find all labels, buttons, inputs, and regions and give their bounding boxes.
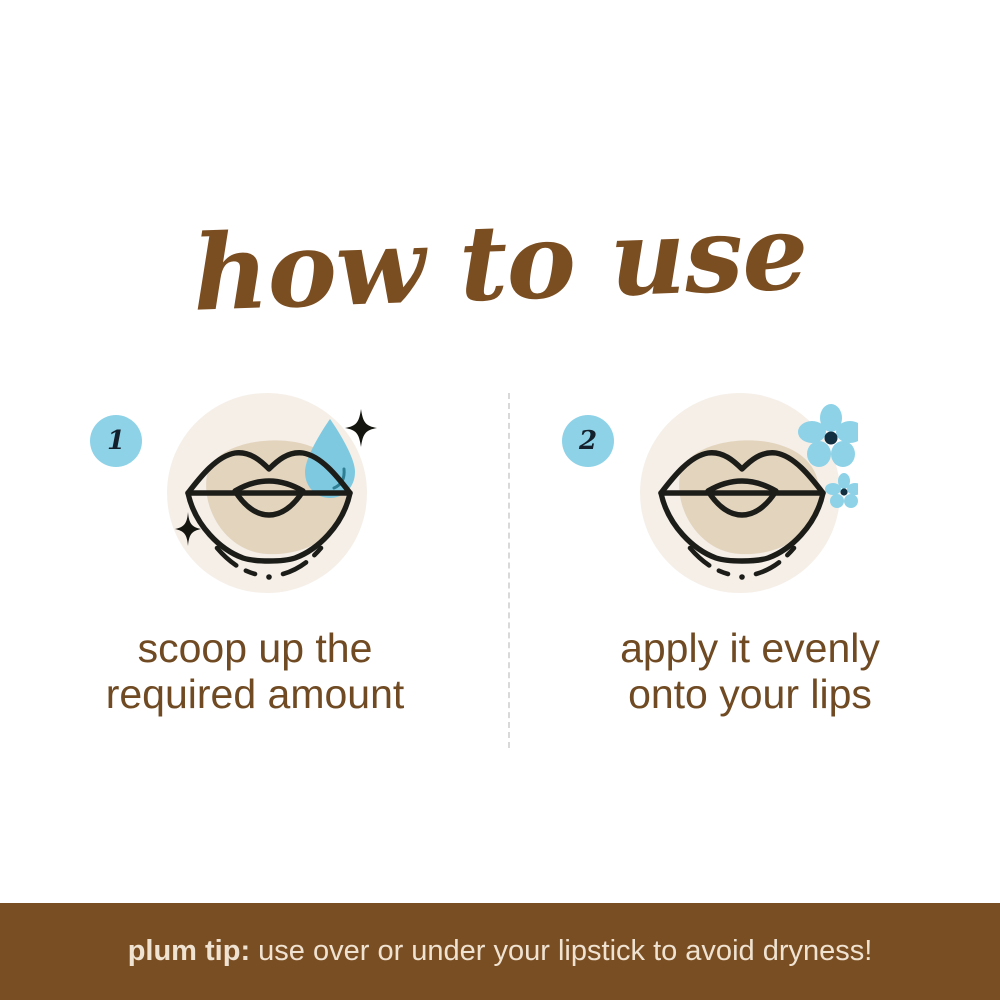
step-badge-1-label: 1 (107, 426, 125, 456)
tip-banner: plum tip: use over or under your lipstic… (0, 903, 1000, 1000)
step-badge-2-label: 2 (579, 426, 597, 456)
step-badge-2: 2 (562, 415, 614, 467)
tip-banner-text: plum tip: use over or under your lipstic… (128, 935, 873, 968)
step-1: 1 (25, 380, 485, 760)
step-badge-1: 1 (90, 415, 142, 467)
tip-banner-body: use over or under your lipstick to avoid… (250, 935, 872, 967)
step-2: 2 (520, 380, 980, 760)
step-1-caption: scoop up the required amount (25, 625, 485, 717)
how-to-use-infographic: how to use 1 (0, 0, 1000, 1000)
step-2-caption: apply it evenly onto your lips (520, 625, 980, 717)
illustration-lips-droplet (155, 380, 385, 610)
page-title: how to use (0, 181, 1000, 346)
illustration-lips-flowers (628, 380, 858, 610)
steps-container: 1 (0, 380, 1000, 760)
tip-banner-lead: plum tip: (128, 935, 250, 967)
step-divider (508, 393, 510, 748)
